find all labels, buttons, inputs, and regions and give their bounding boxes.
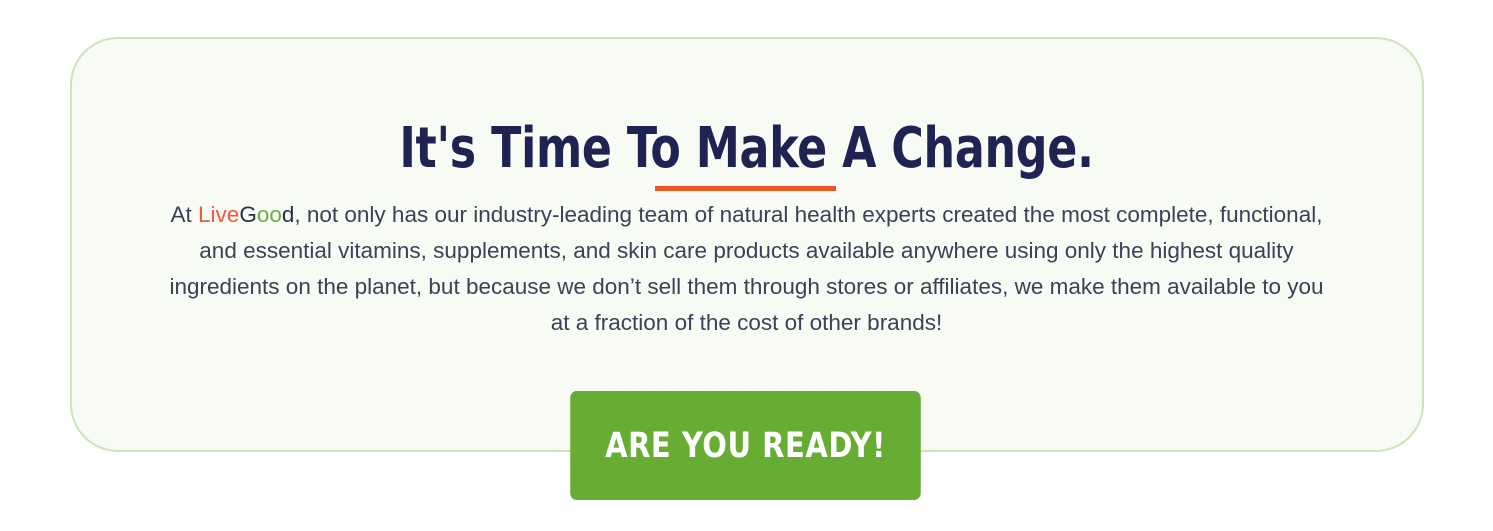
cta-section: It's Time To Make A Change. At LiveGood,…	[0, 0, 1493, 531]
brand-oo: oo	[257, 202, 282, 227]
are-you-ready-button[interactable]: ARE YOU READY!	[570, 391, 921, 500]
headline-underline-rule	[655, 186, 836, 191]
body-line-4: at a fraction of the cost of other brand…	[127, 305, 1367, 341]
page-title: It's Time To Make A Change.	[90, 118, 1404, 180]
body-line-2: and essential vitamins, supplements, and…	[127, 233, 1367, 269]
are-you-ready-button-label: ARE YOU READY!	[605, 426, 886, 466]
body-line-1-prefix: At	[171, 202, 199, 227]
brand-d: d	[282, 202, 295, 227]
brand-live: Live	[198, 202, 239, 227]
brand-g: G	[239, 202, 257, 227]
body-line-1-suffix: , not only has our industry-leading team…	[294, 202, 1322, 227]
body-copy: At LiveGood, not only has our industry-l…	[127, 197, 1367, 341]
body-line-3: ingredients on the planet, but because w…	[127, 269, 1367, 305]
body-line-1: At LiveGood, not only has our industry-l…	[127, 197, 1367, 233]
